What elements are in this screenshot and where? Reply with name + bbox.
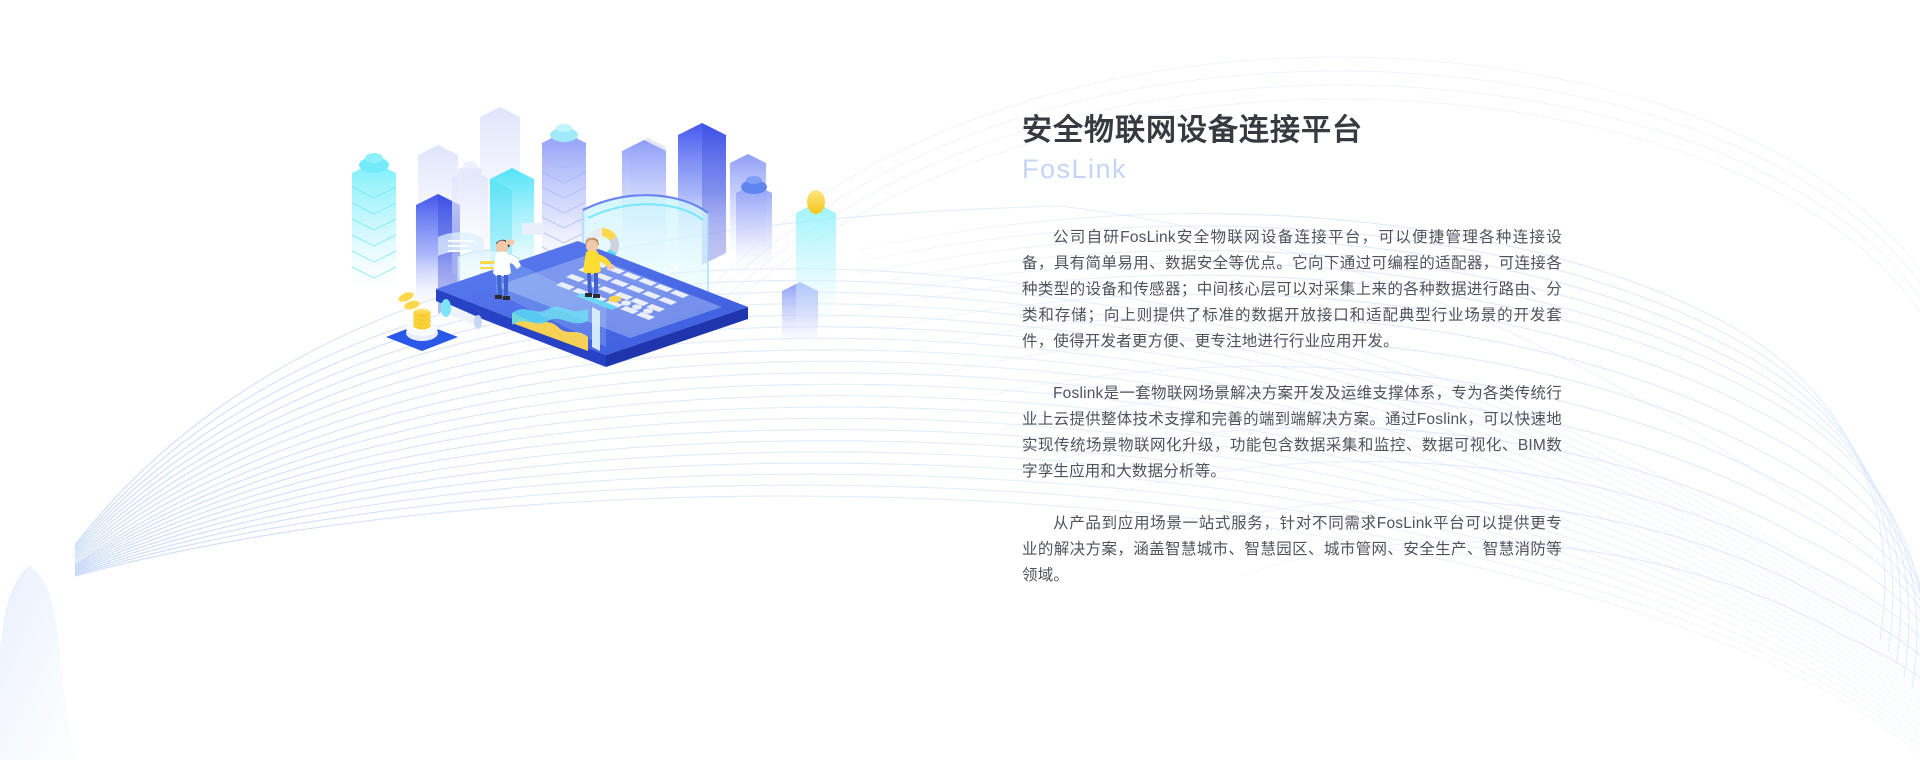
- paragraph-2: Foslink是一套物联网场景解决方案开发及运维支撑体系，专为各类传统行业上云提…: [1022, 381, 1562, 485]
- isometric-smart-city-illustration: [330, 55, 860, 355]
- hero-text-column: 安全物联网设备连接平台 FosLink 公司自研FosLink安全物联网设备连接…: [1022, 112, 1562, 589]
- hero-page: 安全物联网设备连接平台 FosLink 公司自研FosLink安全物联网设备连接…: [0, 0, 1920, 760]
- paragraph-1: 公司自研FosLink安全物联网设备连接平台，可以便捷管理各种连接设备，具有简单…: [1022, 225, 1562, 355]
- paragraph-3: 从产品到应用场景一站式服务，针对不同需求FosLink平台可以提供更专业的解决方…: [1022, 511, 1562, 589]
- product-name-subtitle: FosLink: [1022, 152, 1562, 187]
- background-wave-pattern: [0, 0, 1920, 760]
- page-title: 安全物联网设备连接平台: [1022, 112, 1562, 150]
- description-block: 公司自研FosLink安全物联网设备连接平台，可以便捷管理各种连接设备，具有简单…: [1022, 225, 1562, 589]
